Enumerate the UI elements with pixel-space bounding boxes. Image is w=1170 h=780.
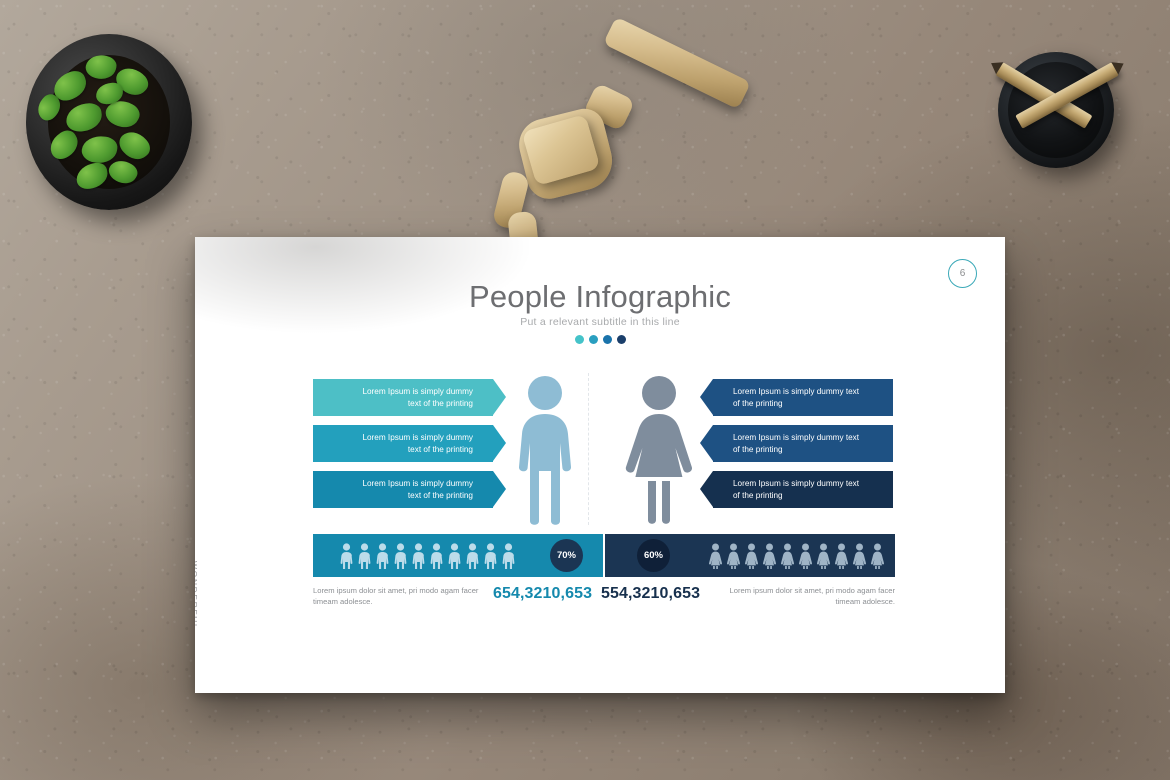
- right-people-icons: [708, 543, 885, 569]
- left-banner-2-line1: Lorem Ipsum is simply dummy: [362, 432, 473, 443]
- right-percent-badge: 60%: [637, 539, 670, 572]
- left-banner-3[interactable]: Lorem Ipsum is simply dummy text of the …: [313, 471, 493, 508]
- right-banner-2-line1: Lorem Ipsum is simply dummy text: [733, 432, 859, 443]
- left-banner-2-line2: text of the printing: [362, 444, 473, 455]
- right-banner-3[interactable]: Lorem Ipsum is simply dummy text of the …: [713, 471, 893, 508]
- left-percent-badge: 70%: [550, 539, 583, 572]
- pencil-bowl: [998, 52, 1114, 168]
- left-people-icons: [339, 543, 516, 569]
- left-footer-text: Lorem ipsum dolor sit amet, pri modo aga…: [313, 585, 488, 608]
- left-percent-label: 70%: [557, 550, 576, 561]
- left-banner-1-line1: Lorem Ipsum is simply dummy: [362, 386, 473, 397]
- right-banner-2[interactable]: Lorem Ipsum is simply dummy text of the …: [713, 425, 893, 462]
- right-banner-1-line2: of the printing: [733, 398, 859, 409]
- dot-1: [575, 335, 584, 344]
- dot-indicator: [195, 335, 1005, 344]
- right-banner-1[interactable]: Lorem Ipsum is simply dummy text of the …: [713, 379, 893, 416]
- right-banner-group: Lorem Ipsum is simply dummy text of the …: [713, 379, 893, 517]
- left-banner-group: Lorem Ipsum is simply dummy text of the …: [313, 379, 493, 517]
- right-banner-3-line2: of the printing: [733, 490, 859, 501]
- center-divider: [588, 373, 589, 525]
- page-number-badge: 6: [948, 259, 977, 288]
- left-banner-3-line1: Lorem Ipsum is simply dummy: [362, 478, 473, 489]
- page-number-label: 6: [960, 268, 966, 279]
- dot-2: [589, 335, 598, 344]
- right-footer-text: Lorem ipsum dolor sit amet, pri modo aga…: [720, 585, 895, 608]
- right-percent-label: 60%: [644, 550, 663, 561]
- right-banner-2-line2: of the printing: [733, 444, 859, 455]
- dot-4: [617, 335, 626, 344]
- right-percent-bar: 60%: [605, 534, 895, 577]
- female-figure-icon: [623, 375, 695, 530]
- potted-plant: [26, 34, 192, 210]
- page-title: People Infographic: [195, 279, 1005, 315]
- right-banner-1-line1: Lorem Ipsum is simply dummy text: [733, 386, 859, 397]
- male-figure-icon: [510, 375, 580, 530]
- left-banner-2[interactable]: Lorem Ipsum is simply dummy text of the …: [313, 425, 493, 462]
- page-subtitle: Put a relevant subtitle in this line: [195, 316, 1005, 328]
- right-banner-3-line1: Lorem Ipsum is simply dummy text: [733, 478, 859, 489]
- side-label: WONDERFUL: [195, 561, 199, 630]
- dot-3: [603, 335, 612, 344]
- left-banner-1[interactable]: Lorem Ipsum is simply dummy text of the …: [313, 379, 493, 416]
- left-banner-3-line2: text of the printing: [362, 490, 473, 501]
- right-big-number: 554,3210,653: [601, 585, 700, 603]
- left-big-number: 654,3210,653: [493, 585, 592, 603]
- left-percent-bar: 70%: [313, 534, 603, 577]
- left-banner-1-line2: text of the printing: [362, 398, 473, 409]
- presentation-slide: People Infographic Put a relevant subtit…: [195, 237, 1005, 693]
